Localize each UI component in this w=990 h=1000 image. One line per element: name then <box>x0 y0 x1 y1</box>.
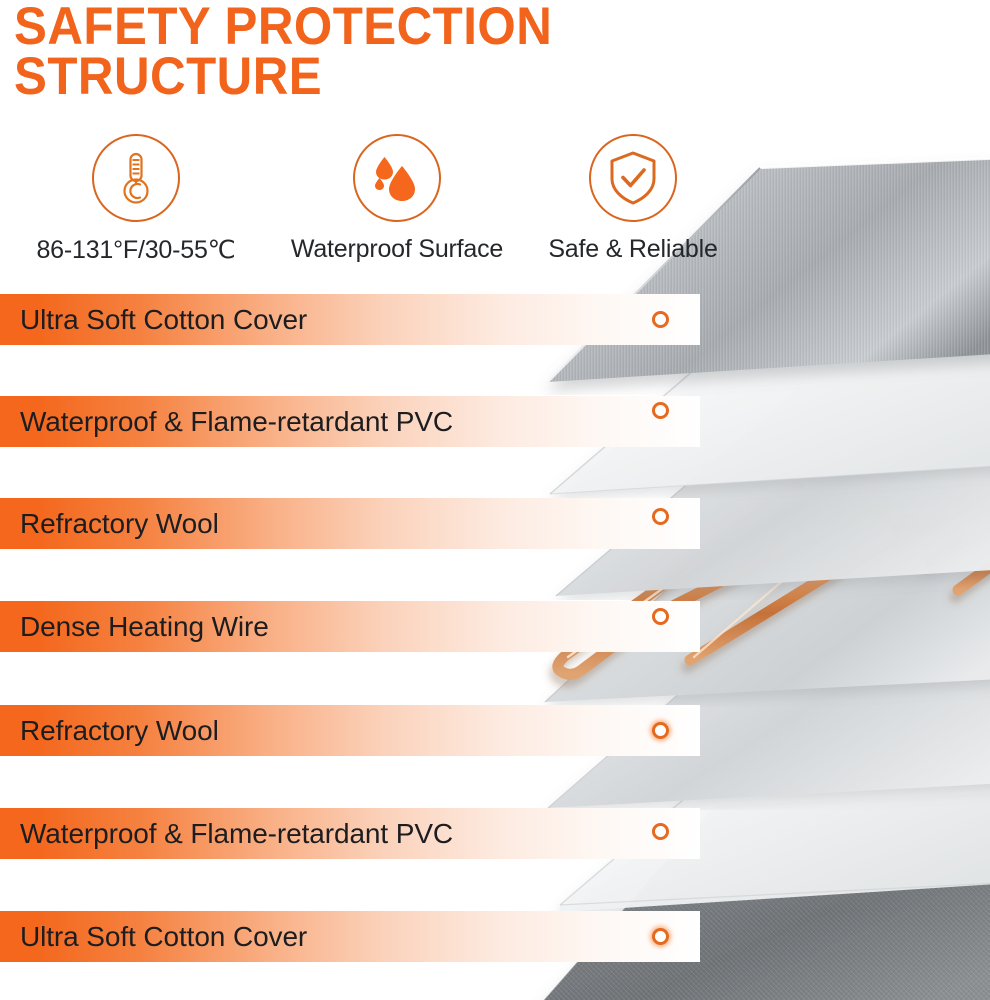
shield-check-icon <box>607 149 659 207</box>
layer-label: Refractory Wool <box>0 508 219 540</box>
layer-label: Refractory Wool <box>0 715 219 747</box>
layer-marker-1 <box>652 311 669 328</box>
feature-label: Waterproof Surface <box>291 235 503 264</box>
layer-row-3: Refractory Wool <box>0 498 700 549</box>
water-droplets-icon <box>369 150 425 206</box>
layer-marker-6 <box>652 823 669 840</box>
layer-marker-3 <box>652 508 669 525</box>
layer-row-1: Ultra Soft Cotton Cover <box>0 294 700 345</box>
feature-badge-row: 86-131°F/30-55℃ Waterproof Surface <box>0 134 745 269</box>
layer-marker-4 <box>652 608 669 625</box>
layer-label: Waterproof & Flame-retardant PVC <box>0 406 453 438</box>
page-title: SAFETY PROTECTION STRUCTURE <box>14 2 665 102</box>
feature-safe-reliable: Safe & Reliable <box>522 134 744 264</box>
safety-protection-structure-infographic: SAFETY PROTECTION STRUCTURE <box>0 0 990 1000</box>
layer-row-7: Ultra Soft Cotton Cover <box>0 911 700 962</box>
feature-waterproof-surface: Waterproof Surface <box>272 134 522 264</box>
layer-row-6: Waterproof & Flame-retardant PVC <box>0 808 700 859</box>
layer-marker-2 <box>652 402 669 419</box>
layer-label: Ultra Soft Cotton Cover <box>0 921 307 953</box>
feature-temperature-range: 86-131°F/30-55℃ <box>0 134 272 265</box>
thermometer-icon-ring <box>92 134 180 222</box>
layer-label: Ultra Soft Cotton Cover <box>0 304 307 336</box>
layer-marker-7 <box>652 928 669 945</box>
layer-marker-5 <box>652 722 669 739</box>
layer-row-5: Refractory Wool <box>0 705 700 756</box>
thermometer-icon <box>110 149 162 207</box>
layer-row-2: Waterproof & Flame-retardant PVC <box>0 396 700 447</box>
shield-check-icon-ring <box>589 134 677 222</box>
feature-label: 86-131°F/30-55℃ <box>36 235 235 265</box>
water-droplets-icon-ring <box>353 134 441 222</box>
layer-label: Waterproof & Flame-retardant PVC <box>0 818 453 850</box>
feature-label: Safe & Reliable <box>548 235 717 264</box>
layer-label: Dense Heating Wire <box>0 611 269 643</box>
layer-row-4: Dense Heating Wire <box>0 601 700 652</box>
